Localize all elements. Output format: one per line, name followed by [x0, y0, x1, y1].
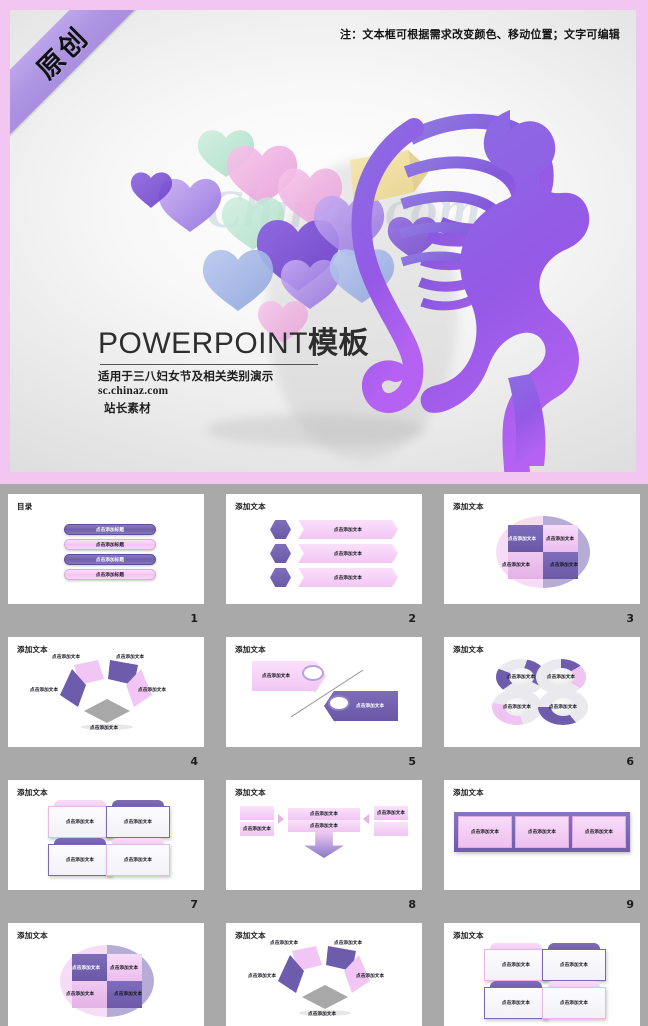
highlight-band: 点击添加文本 点击添加文本 点击添加文本	[454, 812, 630, 852]
menu-pill-label: 点击添加标题	[96, 572, 124, 578]
donut-hole: 点击添加文本	[551, 698, 576, 716]
chevron-label: 点击添加文本	[334, 551, 362, 557]
slide-title: 添加文本	[235, 930, 266, 941]
donut-chart[interactable]: 点击添加文本	[492, 689, 542, 725]
slide-title: 目录	[17, 501, 32, 512]
flow-box-label: 点击添加文本	[377, 810, 405, 816]
arrow-block-label: 点击添加文本	[356, 703, 384, 709]
quadrant-cycle-diagram: 点击添加文本 点击添加文本 点击添加文本 点击添加文本	[496, 516, 590, 588]
menu-pill-label: 点击添加标题	[96, 542, 124, 548]
chevron-banner[interactable]: 点击添加文本	[298, 544, 398, 563]
hexagon-bullet-icon	[270, 520, 291, 539]
menu-pill[interactable]: 点击添加标题	[64, 569, 156, 580]
pentagon-label: 点击添加文本	[116, 654, 144, 660]
flow-box[interactable]: 点击添加文本	[240, 822, 274, 836]
donut-label: 点击添加文本	[549, 704, 577, 710]
slide-title: 添加文本	[453, 644, 484, 655]
pentagon-label: 点击添加文本	[334, 940, 362, 946]
slide-9[interactable]: 添加文本 点击添加文本 点击添加文本 点击添加文本	[444, 780, 640, 890]
page-title: POWERPOINT模板	[98, 328, 369, 360]
pentagon-label: 点击添加文本	[30, 687, 58, 693]
slide-thumbnail-grid: 目录 点击添加标题 点击添加标题 点击添加标题 点击添加标题 1 添加文本 点击…	[0, 484, 648, 1026]
slide-number: 5	[408, 755, 416, 768]
flow-box[interactable]: 点击添加文本	[288, 820, 360, 832]
slide-7[interactable]: 添加文本 点击添加文本 点击添加文本 点击添加文本 点击添加文本	[8, 780, 204, 890]
quadrant-group	[72, 954, 142, 1008]
cover-title-block: POWERPOINT模板 适用于三八妇女节及相关类别演示 sc.chinaz.c…	[98, 328, 369, 416]
slide-title: 添加文本	[17, 930, 48, 941]
info-card[interactable]: 点击添加文本	[484, 949, 548, 981]
flow-box-label: 点击添加文本	[243, 826, 271, 832]
info-card[interactable]: 点击添加文本	[484, 987, 548, 1019]
quadrant-label: 点击添加文本	[508, 536, 536, 542]
pentagon-star-diagram	[46, 657, 168, 731]
thumbnail-cell-6[interactable]: 添加文本 点击添加文本 点击添加文本 点击添加文本 点击添加文本 6	[444, 637, 640, 768]
cover-slide: Chinaz.com 原创 注：文本框可根据需求改变颜色、移动位置；文字可编辑 …	[10, 10, 636, 472]
slide-title: 添加文本	[17, 644, 48, 655]
slide-number: 7	[190, 898, 198, 911]
thumbnail-cell-7[interactable]: 添加文本 点击添加文本 点击添加文本 点击添加文本 点击添加文本 7	[8, 780, 204, 911]
thumbnail-cell-3[interactable]: 添加文本 点击添加文本 点击添加文本 点击添加文本 点击添加文本 3	[444, 494, 640, 625]
thumbnail-cell-8[interactable]: 添加文本 点击添加文本 点击添加文本 点击添加文本 点击添加文本 8	[226, 780, 422, 911]
band-box[interactable]: 点击添加文本	[515, 816, 569, 848]
thumbnail-cell-4[interactable]: 添加文本 点击添加文本 点击添加文本 点击添加文本 点击添加文本 点击添加文本 …	[8, 637, 204, 768]
cover-url: sc.chinaz.com	[98, 385, 369, 397]
quadrant-label: 点击添加文本	[546, 536, 574, 542]
donut-hole: 点击添加文本	[549, 668, 574, 686]
info-card[interactable]: 点击添加文本	[542, 987, 606, 1019]
slide-title: 添加文本	[235, 644, 266, 655]
quadrant-label: 点击添加文本	[502, 562, 530, 568]
pentagon-label: 点击添加文本	[270, 940, 298, 946]
slide-5[interactable]: 添加文本 点击添加文本 点击添加文本	[226, 637, 422, 747]
band-box-label: 点击添加文本	[471, 829, 499, 835]
card-label: 点击添加文本	[560, 1000, 588, 1006]
slide-2[interactable]: 添加文本 点击添加文本 点击添加文本 点击添加文本	[226, 494, 422, 604]
quadrant-label: 点击添加文本	[72, 965, 100, 971]
quadrant-cycle-diagram: 点击添加文本 点击添加文本 点击添加文本 点击添加文本	[60, 945, 154, 1017]
chevron-label: 点击添加文本	[334, 527, 362, 533]
slide-8[interactable]: 添加文本 点击添加文本 点击添加文本 点击添加文本 点击添加文本	[226, 780, 422, 890]
slide-number: 1	[190, 612, 198, 625]
circle-accent	[328, 695, 350, 711]
circle-accent	[302, 665, 324, 681]
flow-box[interactable]	[374, 822, 408, 836]
donut-chart[interactable]: 点击添加文本	[538, 689, 588, 725]
slide-10[interactable]: 添加文本 点击添加文本 点击添加文本 点击添加文本 点击添加文本	[8, 923, 204, 1026]
slide-number: 9	[626, 898, 634, 911]
slide-title: 添加文本	[235, 787, 266, 798]
band-box-label: 点击添加文本	[585, 829, 613, 835]
info-card[interactable]: 点击添加文本	[48, 844, 112, 876]
editable-note-text: 注：文本框可根据需求改变颜色、移动位置；文字可编辑	[340, 26, 620, 42]
info-card[interactable]: 点击添加文本	[106, 844, 170, 876]
pentagon-label: 点击添加文本	[248, 973, 276, 979]
title-chinese: 模板	[308, 326, 369, 361]
quadrant-label: 点击添加文本	[114, 991, 142, 997]
quadrant-label: 点击添加文本	[110, 965, 138, 971]
chevron-banner[interactable]: 点击添加文本	[298, 520, 398, 539]
donut-hole: 点击添加文本	[509, 668, 534, 686]
slide-1[interactable]: 目录 点击添加标题 点击添加标题 点击添加标题 点击添加标题	[8, 494, 204, 604]
pentagon-label: 点击添加文本	[356, 973, 384, 979]
slide-number: 4	[190, 755, 198, 768]
pentagon-label: 点击添加文本	[308, 1011, 336, 1017]
slide-title: 添加文本	[453, 787, 484, 798]
slide-title: 添加文本	[453, 501, 484, 512]
cover-subtitle: 适用于三八妇女节及相关类别演示	[98, 368, 369, 384]
quadrant-group	[508, 525, 578, 579]
chevron-left-icon	[363, 814, 369, 824]
title-english: POWERPOINT	[98, 327, 308, 360]
slide-number: 3	[626, 612, 634, 625]
card-label: 点击添加文本	[66, 857, 94, 863]
card-label: 点击添加文本	[124, 857, 152, 863]
band-box-label: 点击添加文本	[528, 829, 556, 835]
thumbnail-cell-10[interactable]: 添加文本 点击添加文本 点击添加文本 点击添加文本 点击添加文本 10	[8, 923, 204, 1026]
quadrant-label: 点击添加文本	[66, 991, 94, 997]
donut-label: 点击添加文本	[503, 704, 531, 710]
slide-number: 8	[408, 898, 416, 911]
hexagon-bullet-icon	[270, 568, 291, 587]
pentagon-label: 点击添加文本	[52, 654, 80, 660]
flow-box-label: 点击添加文本	[310, 823, 338, 829]
chevron-right-icon	[278, 814, 284, 824]
flow-box[interactable]	[240, 806, 274, 820]
pentagon-star-diagram	[264, 943, 386, 1017]
arrow-block-label: 点击添加文本	[262, 673, 290, 679]
title-divider	[100, 364, 318, 365]
flow-box[interactable]: 点击添加文本	[288, 808, 360, 820]
card-label: 点击添加文本	[502, 1000, 530, 1006]
chevron-label: 点击添加文本	[334, 575, 362, 581]
thumbnail-cell-2[interactable]: 添加文本 点击添加文本 点击添加文本 点击添加文本 2	[226, 494, 422, 625]
thumbnail-cell-1[interactable]: 目录 点击添加标题 点击添加标题 点击添加标题 点击添加标题 1	[8, 494, 204, 625]
info-card[interactable]: 点击添加文本	[542, 949, 606, 981]
chevron-banner[interactable]: 点击添加文本	[298, 568, 398, 587]
slide-title: 添加文本	[453, 930, 484, 941]
donut-hole: 点击添加文本	[505, 698, 530, 716]
card-label: 点击添加文本	[560, 962, 588, 968]
slide-title: 添加文本	[235, 501, 266, 512]
pentagon-label: 点击添加文本	[138, 687, 166, 693]
card-label: 点击添加文本	[66, 819, 94, 825]
hexagon-bullet-icon	[270, 544, 291, 563]
cover-brand: 站长素材	[104, 400, 369, 416]
menu-pill[interactable]: 点击添加标题	[64, 524, 156, 535]
donut-label: 点击添加文本	[507, 674, 535, 680]
slide-3[interactable]: 添加文本 点击添加文本 点击添加文本 点击添加文本 点击添加文本	[444, 494, 640, 604]
flow-box[interactable]: 点击添加文本	[374, 806, 408, 820]
menu-pill-label: 点击添加标题	[96, 557, 124, 563]
down-arrow-icon	[304, 832, 344, 858]
pentagon-segment	[84, 699, 130, 723]
slide-number: 6	[626, 755, 634, 768]
slide-4[interactable]: 添加文本 点击添加文本 点击添加文本 点击添加文本 点击添加文本 点击添加文本	[8, 637, 204, 747]
slide-title: 添加文本	[17, 787, 48, 798]
flow-box-label: 点击添加文本	[310, 811, 338, 817]
info-card[interactable]: 点击添加文本	[106, 806, 170, 838]
pentagon-segment	[302, 985, 348, 1009]
card-label: 点击添加文本	[124, 819, 152, 825]
slide-number: 2	[408, 612, 416, 625]
info-card[interactable]: 点击添加文本	[48, 806, 112, 838]
cover-slide-frame: Chinaz.com 原创 注：文本框可根据需求改变颜色、移动位置；文字可编辑 …	[0, 0, 648, 484]
ppt-template-preview-page: Chinaz.com 原创 注：文本框可根据需求改变颜色、移动位置；文字可编辑 …	[0, 0, 648, 1026]
quadrant-label: 点击添加文本	[550, 562, 578, 568]
slide-11[interactable]: 添加文本 点击添加文本 点击添加文本 点击添加文本 点击添加文本 点击添加文本	[226, 923, 422, 1026]
thumbnail-cell-11[interactable]: 添加文本 点击添加文本 点击添加文本 点击添加文本 点击添加文本 点击添加文本 …	[226, 923, 422, 1026]
thumbnail-cell-5[interactable]: 添加文本 点击添加文本 点击添加文本 5	[226, 637, 422, 768]
card-label: 点击添加文本	[502, 962, 530, 968]
menu-pill[interactable]: 点击添加标题	[64, 554, 156, 565]
thumbnail-cell-12[interactable]: 添加文本 点击添加文本 点击添加文本 点击添加文本 点击添加文本 12	[444, 923, 640, 1026]
pentagon-label: 点击添加文本	[90, 725, 118, 731]
menu-pill-label: 点击添加标题	[96, 527, 124, 533]
menu-pill[interactable]: 点击添加标题	[64, 539, 156, 550]
band-box[interactable]: 点击添加文本	[458, 816, 512, 848]
band-box[interactable]: 点击添加文本	[572, 816, 626, 848]
donut-label: 点击添加文本	[547, 674, 575, 680]
slide-6[interactable]: 添加文本 点击添加文本 点击添加文本 点击添加文本 点击添加文本	[444, 637, 640, 747]
slide-12[interactable]: 添加文本 点击添加文本 点击添加文本 点击添加文本 点击添加文本	[444, 923, 640, 1026]
thumbnail-cell-9[interactable]: 添加文本 点击添加文本 点击添加文本 点击添加文本 9	[444, 780, 640, 911]
